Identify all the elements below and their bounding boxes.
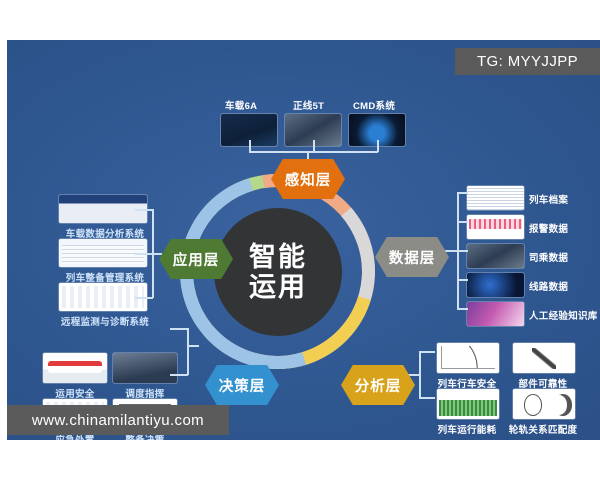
application-items-group: 车载数据分析系统 列车整备管理系统 远程监测与诊断系统 — [47, 195, 163, 325]
connector-line — [457, 308, 468, 310]
connector-line — [457, 192, 468, 194]
data-item-label: 司乘数据 — [529, 250, 568, 264]
application-item-label: 车载数据分析系统 — [47, 226, 163, 240]
center-title-line1: 智能 — [249, 242, 307, 272]
analysis-item-label: 列车行车安全 — [429, 376, 505, 390]
connector-line — [135, 297, 153, 299]
connector-line — [444, 250, 458, 252]
connector-line — [135, 209, 153, 211]
connector-line — [419, 397, 435, 399]
analysis-item-thumbnail[interactable] — [513, 343, 575, 373]
sense-item-label: 车载6A — [225, 98, 257, 112]
application-item-label: 远程监测与诊断系统 — [47, 314, 163, 328]
data-item-label: 线路数据 — [529, 279, 568, 293]
data-item-thumbnail[interactable] — [467, 273, 524, 297]
data-items-group: 列车档案 报警数据 司乘数据 线路数据 人工经验知识库 — [467, 186, 600, 326]
application-item-thumbnail[interactable] — [59, 195, 147, 223]
analysis-item-thumbnail[interactable] — [437, 389, 499, 419]
analysis-item-thumbnail[interactable] — [437, 343, 499, 373]
layer-node-data[interactable]: 数据层 — [375, 237, 449, 277]
sense-item-label: CMD系统 — [353, 98, 395, 112]
data-item-thumbnail[interactable] — [467, 244, 524, 268]
application-item-thumbnail[interactable] — [59, 283, 147, 311]
analysis-item-thumbnail[interactable] — [513, 389, 575, 419]
center-title-line2: 运用 — [249, 272, 307, 302]
connector-line — [457, 221, 468, 223]
application-item-label: 列车整备管理系统 — [47, 270, 163, 284]
application-item-thumbnail[interactable] — [59, 239, 147, 267]
layer-node-application[interactable]: 应用层 — [159, 239, 233, 279]
analysis-item-label: 部件可靠性 — [505, 376, 581, 390]
data-item-thumbnail[interactable] — [467, 302, 524, 326]
connector-line — [135, 253, 153, 255]
analysis-items-group: 列车行车安全 部件可靠性 列车运行能耗 轮轨关系匹配度 — [429, 343, 589, 433]
connector-line — [457, 250, 468, 252]
data-item-thumbnail[interactable] — [467, 186, 524, 210]
data-item-label: 列车档案 — [529, 192, 568, 206]
data-item-label: 人工经验知识库 — [529, 308, 598, 322]
analysis-item-label: 列车运行能耗 — [429, 422, 505, 436]
decision-item-label: 运用安全 — [43, 386, 107, 400]
layer-node-sense[interactable]: 感知层 — [271, 159, 345, 199]
layer-node-analysis[interactable]: 分析层 — [341, 365, 415, 405]
data-item-label: 报警数据 — [529, 221, 568, 235]
center-core: 智能 运用 — [214, 208, 342, 336]
site-badge: www.chinamilantiyu.com — [7, 405, 229, 435]
diagram-panel: 车载6A 正线5T CMD系统 车载数据分析系统 列车整备管理系统 远程监测与诊… — [7, 40, 600, 440]
data-item-thumbnail[interactable] — [467, 215, 524, 239]
analysis-item-label: 轮轨关系匹配度 — [505, 422, 581, 436]
layer-node-decision[interactable]: 决策层 — [205, 365, 279, 405]
connector-line — [457, 279, 468, 281]
connector-line — [152, 253, 162, 255]
sense-item-label: 正线5T — [293, 98, 324, 112]
tg-badge: TG: MYYJJPP — [455, 48, 600, 75]
connector-line — [419, 351, 435, 353]
decision-item-thumbnail[interactable] — [43, 353, 107, 383]
infographic-root: 车载6A 正线5T CMD系统 车载数据分析系统 列车整备管理系统 远程监测与诊… — [0, 0, 600, 480]
